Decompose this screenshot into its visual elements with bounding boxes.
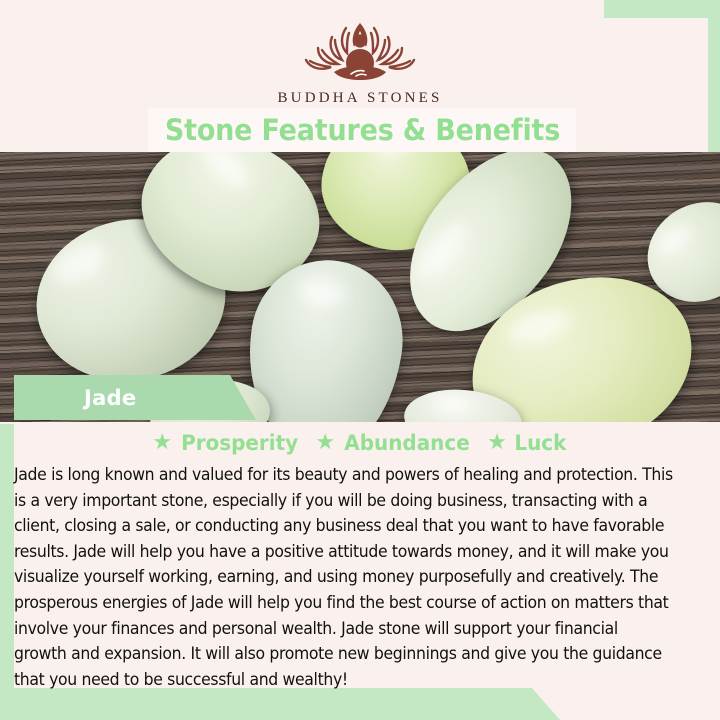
benefit-label: Abundance <box>344 431 469 455</box>
benefit-label: Luck <box>514 431 566 455</box>
decor-bottom-band <box>0 688 560 720</box>
benefit-item-luck: ★ Luck <box>487 431 567 455</box>
decor-left-text-bar <box>0 424 14 696</box>
stone-name-banner: Jade <box>14 375 256 420</box>
benefit-label: Prosperity <box>181 431 298 455</box>
star-icon: ★ <box>152 431 172 453</box>
star-icon: ★ <box>315 431 335 453</box>
brand-logo: BUDDHA STONES <box>0 14 720 107</box>
lotus-meditation-icon <box>294 14 426 88</box>
star-icon: ★ <box>487 431 507 453</box>
benefits-row: ★ Prosperity ★ Abundance ★ Luck <box>0 431 720 455</box>
stone-name-label: Jade <box>84 386 136 410</box>
brand-name: BUDDHA STONES <box>0 90 720 107</box>
header-title-strip: Stone Features & Benefits <box>148 108 576 152</box>
benefit-item-prosperity: ★ Prosperity <box>152 431 301 455</box>
page-title: Stone Features & Benefits <box>164 113 559 147</box>
stone-description: Jade is long known and valued for its be… <box>14 462 675 692</box>
benefit-item-abundance: ★ Abundance <box>315 431 473 455</box>
stone-info-card: BUDDHA STONES Stone Features & Benefits … <box>0 0 720 720</box>
